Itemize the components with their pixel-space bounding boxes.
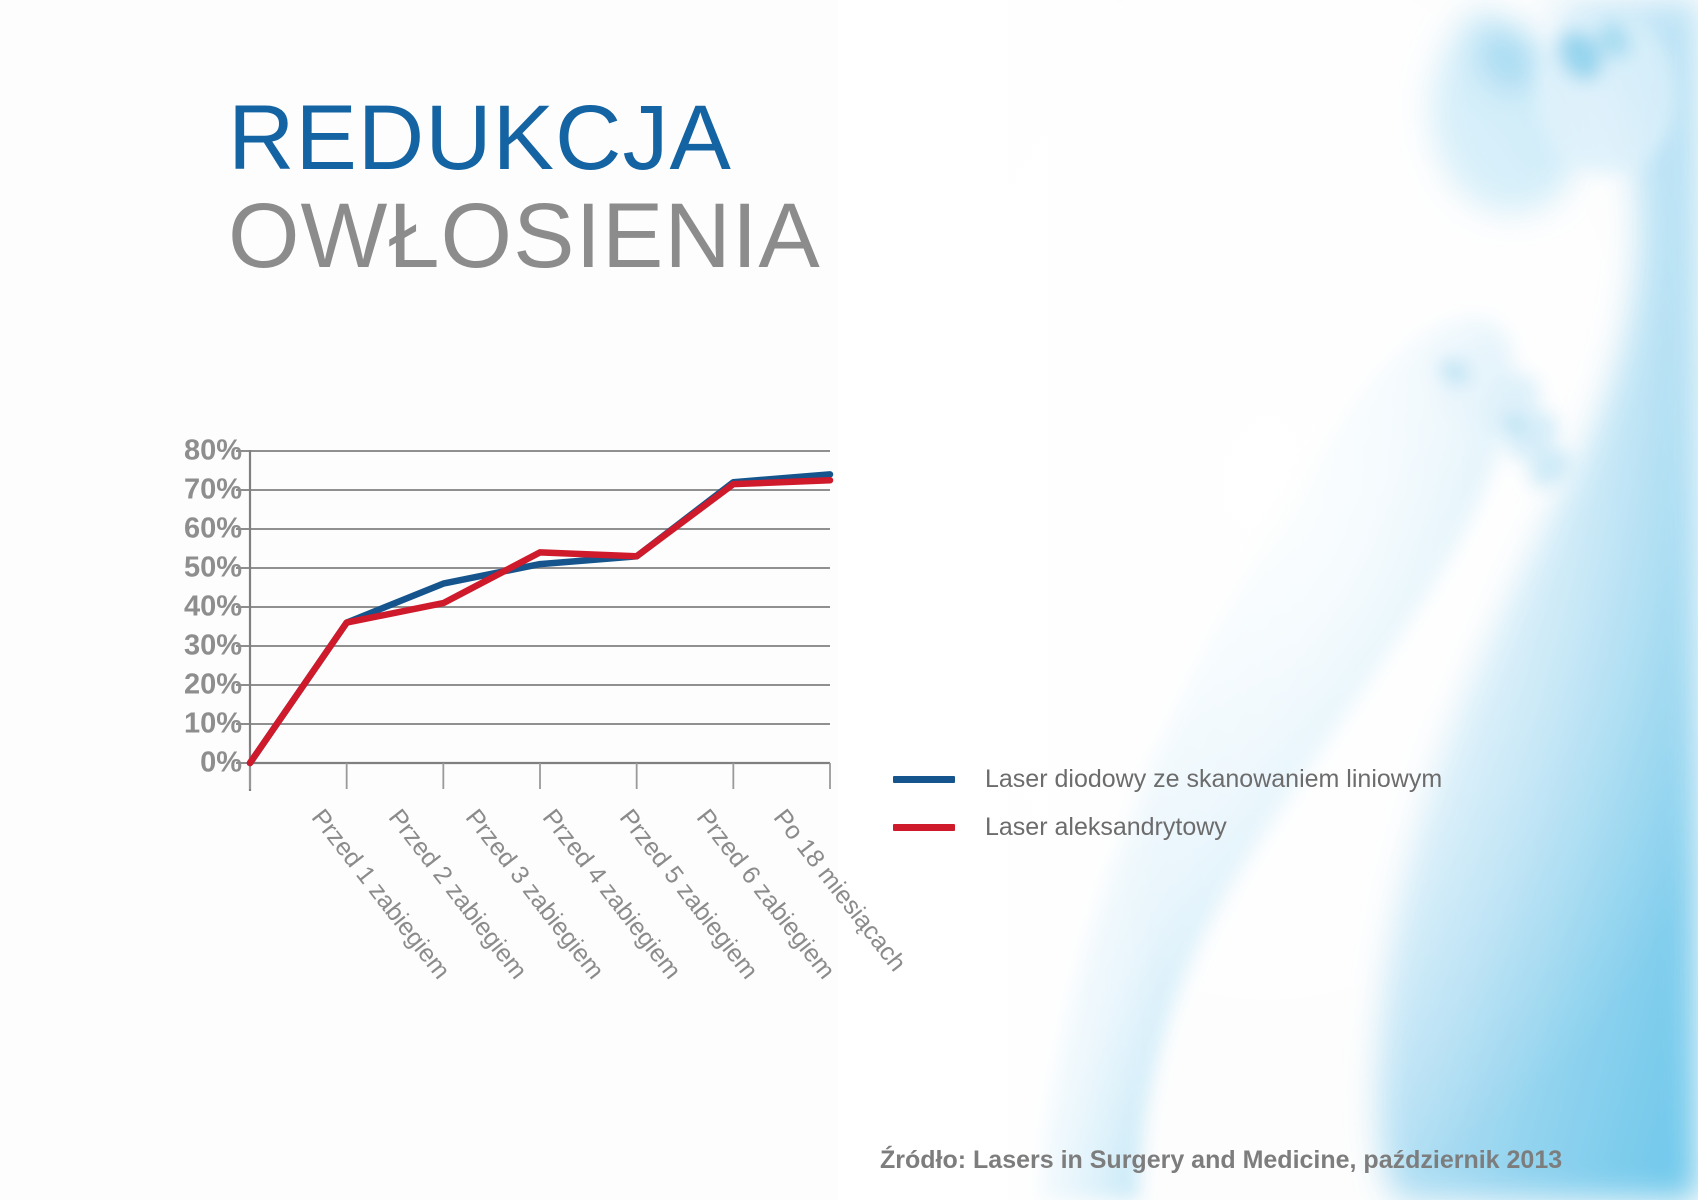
chart-plot-area	[150, 430, 850, 802]
page-title-line-2: OWŁOSIENIA	[228, 188, 821, 286]
x-tick-label: Przed 6 zabiegiem	[690, 804, 840, 985]
y-tick-label: 10%	[150, 708, 242, 741]
y-axis-labels: 80% 70% 60% 50% 40% 30% 20% 10% 0%	[150, 430, 242, 790]
legend-item-diode[interactable]: Laser diodowy ze skanowaniem liniowym	[893, 755, 1442, 803]
y-tick-label: 80%	[150, 435, 242, 468]
x-tick-label: Przed 3 zabiegiem	[459, 804, 609, 985]
x-tick-label: Przed 2 zabiegiem	[382, 804, 532, 985]
x-axis-labels: Przed 1 zabiegiem Przed 2 zabiegiem Prze…	[150, 780, 950, 1080]
legend-item-alexandrite[interactable]: Laser aleksandrytowy	[893, 803, 1442, 851]
y-tick-label: 20%	[150, 669, 242, 702]
line-chart: 80% 70% 60% 50% 40% 30% 20% 10% 0%	[150, 430, 850, 790]
y-tick-label: 0%	[150, 747, 242, 780]
source-citation: Źródło: Lasers in Surgery and Medicine, …	[880, 1146, 1562, 1175]
legend-swatch-line-icon	[893, 776, 955, 783]
x-tick-label: Po 18 miesiącach	[767, 804, 911, 977]
legend-label: Laser diodowy ze skanowaniem liniowym	[985, 765, 1442, 794]
y-tick-label: 70%	[150, 474, 242, 507]
y-tick-label: 40%	[150, 591, 242, 624]
page-title-line-1: REDUKCJA	[228, 90, 821, 188]
x-tick-label: Przed 5 zabiegiem	[613, 804, 763, 985]
chart-legend: Laser diodowy ze skanowaniem liniowym La…	[893, 755, 1442, 851]
background-photo	[838, 0, 1698, 1200]
legend-label: Laser aleksandrytowy	[985, 813, 1227, 842]
legend-swatch-line-icon	[893, 824, 955, 831]
y-tick-label: 60%	[150, 513, 242, 546]
x-tick-label: Przed 4 zabiegiem	[536, 804, 686, 985]
y-tick-label: 50%	[150, 552, 242, 585]
y-tick-label: 30%	[150, 630, 242, 663]
page-title: REDUKCJA OWŁOSIENIA	[228, 90, 821, 285]
x-tick-label: Przed 1 zabiegiem	[305, 804, 455, 985]
slide-canvas: REDUKCJA OWŁOSIENIA 80% 70% 60% 50% 40% …	[0, 0, 1698, 1200]
